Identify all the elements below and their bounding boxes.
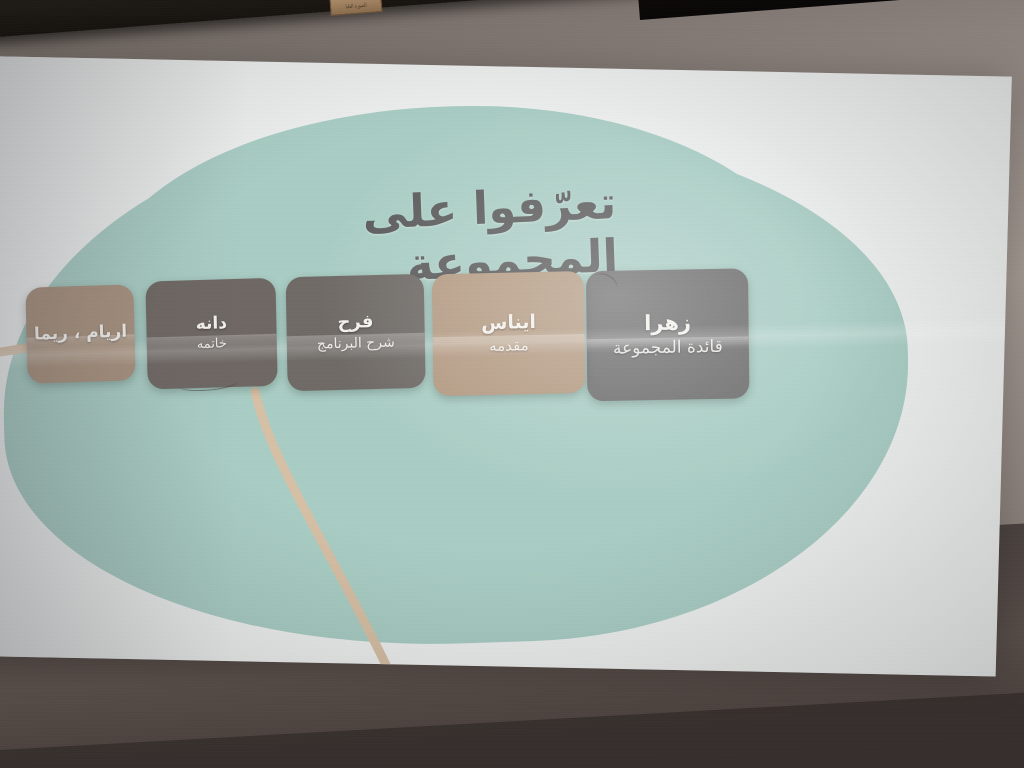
member-card-name: دانه (196, 314, 228, 334)
slide-surface: تعرّفوا على المجموعة زهرا قائدة المجموعة… (0, 56, 1012, 676)
projection-screen: تعرّفوا على المجموعة زهرا قائدة المجموعة… (0, 0, 1024, 768)
projected-slide-photo: الصورة العليا تعرّفوا على المجموعة زهرا (0, 0, 1024, 768)
member-card-enas[interactable]: ايناس مقدمه (432, 271, 586, 396)
member-card-aryam-reema[interactable]: اريام ، ريما (25, 284, 135, 383)
member-card-role: شرح البرنامج (317, 335, 395, 354)
member-card-role: مقدمه (489, 337, 529, 356)
member-card-name: فرح (337, 312, 373, 334)
member-card-zahra[interactable]: زهرا قائدة المجموعة (586, 268, 749, 401)
member-card-name: زهرا (644, 311, 691, 336)
member-card-role: قائدة المجموعة (613, 337, 723, 359)
member-card-name: اريام ، ريما (34, 323, 128, 346)
member-card-name: ايناس (481, 312, 536, 335)
member-card-farah[interactable]: فرح شرح البرنامج (286, 274, 426, 391)
member-card-danah[interactable]: دانه خاتمه (145, 278, 277, 390)
member-card-role: خاتمه (197, 337, 227, 353)
member-card-row: زهرا قائدة المجموعة ايناس مقدمه فرح شرح … (0, 56, 1012, 676)
